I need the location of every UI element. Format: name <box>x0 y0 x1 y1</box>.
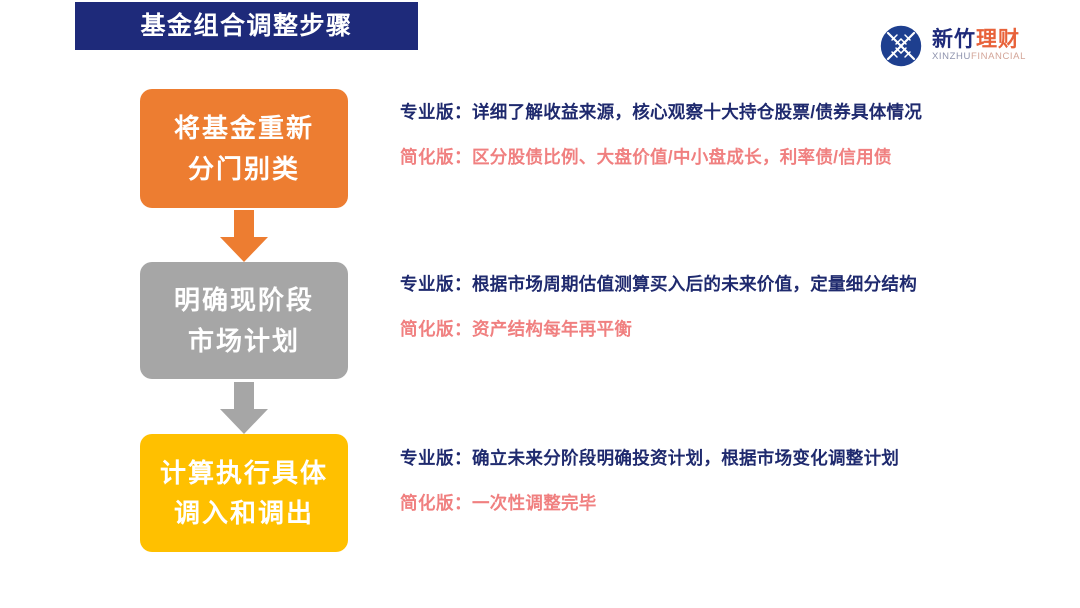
detail-row-3-simple-text: 一次性调整完毕 <box>472 493 597 513</box>
step-box-2-line-1: 明确现阶段 <box>174 280 314 320</box>
step-box-1-line-2: 分门别类 <box>188 149 300 189</box>
detail-row-2-pro-label: 专业版： <box>400 274 472 294</box>
detail-row-1-pro-label: 专业版： <box>400 102 472 122</box>
page-title: 基金组合调整步骤 <box>140 14 352 39</box>
arrow-down-icon-2 <box>212 382 276 434</box>
step-box-1: 将基金重新 分门别类 <box>140 89 348 208</box>
arrow-down-icon-1 <box>212 210 276 262</box>
detail-row-3-pro-label: 专业版： <box>400 448 472 468</box>
step-box-2-line-2: 市场计划 <box>188 321 300 361</box>
detail-row-2-pro-text: 根据市场周期估值测算买入后的未来价值，定量细分结构 <box>472 274 917 294</box>
brand-name-en-secondary: FINANCIAL <box>971 51 1026 62</box>
step-box-2: 明确现阶段 市场计划 <box>140 262 348 379</box>
detail-row-1-simple-label: 简化版： <box>400 147 472 167</box>
step-box-3: 计算执行具体 调入和调出 <box>140 434 348 552</box>
brand-name-en-primary: XINZHU <box>932 51 971 62</box>
detail-row-1-pro: 专业版：详细了解收益来源，核心观察十大持仓股票/债券具体情况 <box>400 104 1060 122</box>
detail-row-2-simple-label: 简化版： <box>400 319 472 339</box>
step-box-3-line-1: 计算执行具体 <box>160 453 328 493</box>
detail-row-3: 专业版：确立未来分阶段明确投资计划，根据市场变化调整计划 简化版：一次性调整完毕 <box>400 450 1060 512</box>
detail-row-2-simple-text: 资产结构每年再平衡 <box>472 319 632 339</box>
bamboo-circle-emblem-icon <box>878 23 924 69</box>
brand-name-cn: 新竹理财 <box>932 29 1026 51</box>
detail-row-2-pro: 专业版：根据市场周期估值测算买入后的未来价值，定量细分结构 <box>400 276 1060 294</box>
detail-row-3-simple: 简化版：一次性调整完毕 <box>400 495 1060 513</box>
detail-row-3-simple-label: 简化版： <box>400 493 472 513</box>
brand-logo: 新竹理财 XINZHUFINANCIAL <box>878 18 1050 74</box>
brand-name-cn-secondary: 理财 <box>976 28 1020 51</box>
brand-name-cn-primary: 新竹 <box>932 28 976 51</box>
detail-row-1: 专业版：详细了解收益来源，核心观察十大持仓股票/债券具体情况 简化版：区分股债比… <box>400 104 1060 166</box>
step-box-1-line-1: 将基金重新 <box>174 108 314 148</box>
detail-row-1-pro-text: 详细了解收益来源，核心观察十大持仓股票/债券具体情况 <box>472 102 922 122</box>
detail-row-2-simple: 简化版：资产结构每年再平衡 <box>400 321 1060 339</box>
slide-title-bar: 基金组合调整步骤 <box>75 2 418 50</box>
detail-row-1-simple-text: 区分股债比例、大盘价值/中小盘成长，利率债/信用债 <box>472 147 892 167</box>
detail-row-3-pro-text: 确立未来分阶段明确投资计划，根据市场变化调整计划 <box>472 448 899 468</box>
step-box-3-line-2: 调入和调出 <box>174 493 314 533</box>
brand-name-en: XINZHUFINANCIAL <box>932 52 1026 62</box>
detail-row-2: 专业版：根据市场周期估值测算买入后的未来价值，定量细分结构 简化版：资产结构每年… <box>400 276 1060 338</box>
brand-wordmark: 新竹理财 XINZHUFINANCIAL <box>932 29 1026 62</box>
detail-row-1-simple: 简化版：区分股债比例、大盘价值/中小盘成长，利率债/信用债 <box>400 149 1060 167</box>
detail-row-3-pro: 专业版：确立未来分阶段明确投资计划，根据市场变化调整计划 <box>400 450 1060 468</box>
